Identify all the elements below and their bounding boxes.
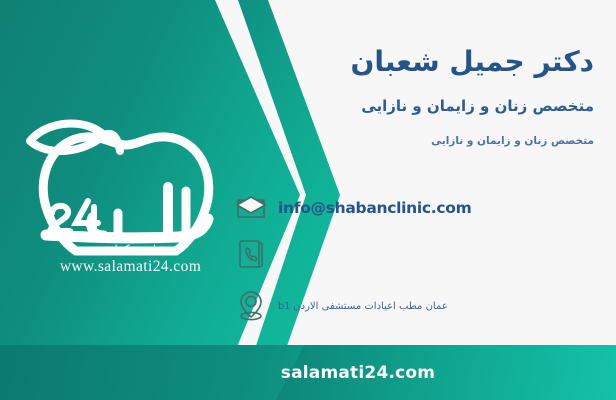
salamati24-logo: براحتی یک لبخند www.salamati24.com: [18, 95, 243, 280]
business-card: براحتی یک لبخند www.salamati24.com دکتر …: [0, 0, 616, 400]
address-value: عمان مطب اعیادات مستشفی الاردن b1: [278, 301, 448, 312]
contact-row-email[interactable]: info@shabanclinic.com: [234, 191, 594, 225]
contact-list: info@shabanclinic.com: [234, 191, 594, 323]
card-details: دکتر جمیل شعبان متخصص زنان و زایمان و نا…: [234, 0, 594, 345]
email-value: info@shabanclinic.com: [278, 199, 471, 217]
doctor-specialty: متخصص زنان و زایمان و نازایی: [234, 97, 594, 115]
contact-row-phone[interactable]: [234, 237, 594, 271]
doctor-specialty-secondary: متخصص زنان و زایمان و نازایی: [234, 135, 594, 147]
logo-url: www.salamati24.com: [18, 258, 243, 276]
location-pin-icon: [234, 289, 268, 323]
footer-url: salamati24.com: [0, 345, 616, 400]
contact-row-address[interactable]: عمان مطب اعیادات مستشفی الاردن b1: [234, 289, 594, 323]
logo-tagline: براحتی یک لبخند: [18, 244, 243, 255]
doctor-name: دکتر جمیل شعبان: [234, 44, 594, 79]
